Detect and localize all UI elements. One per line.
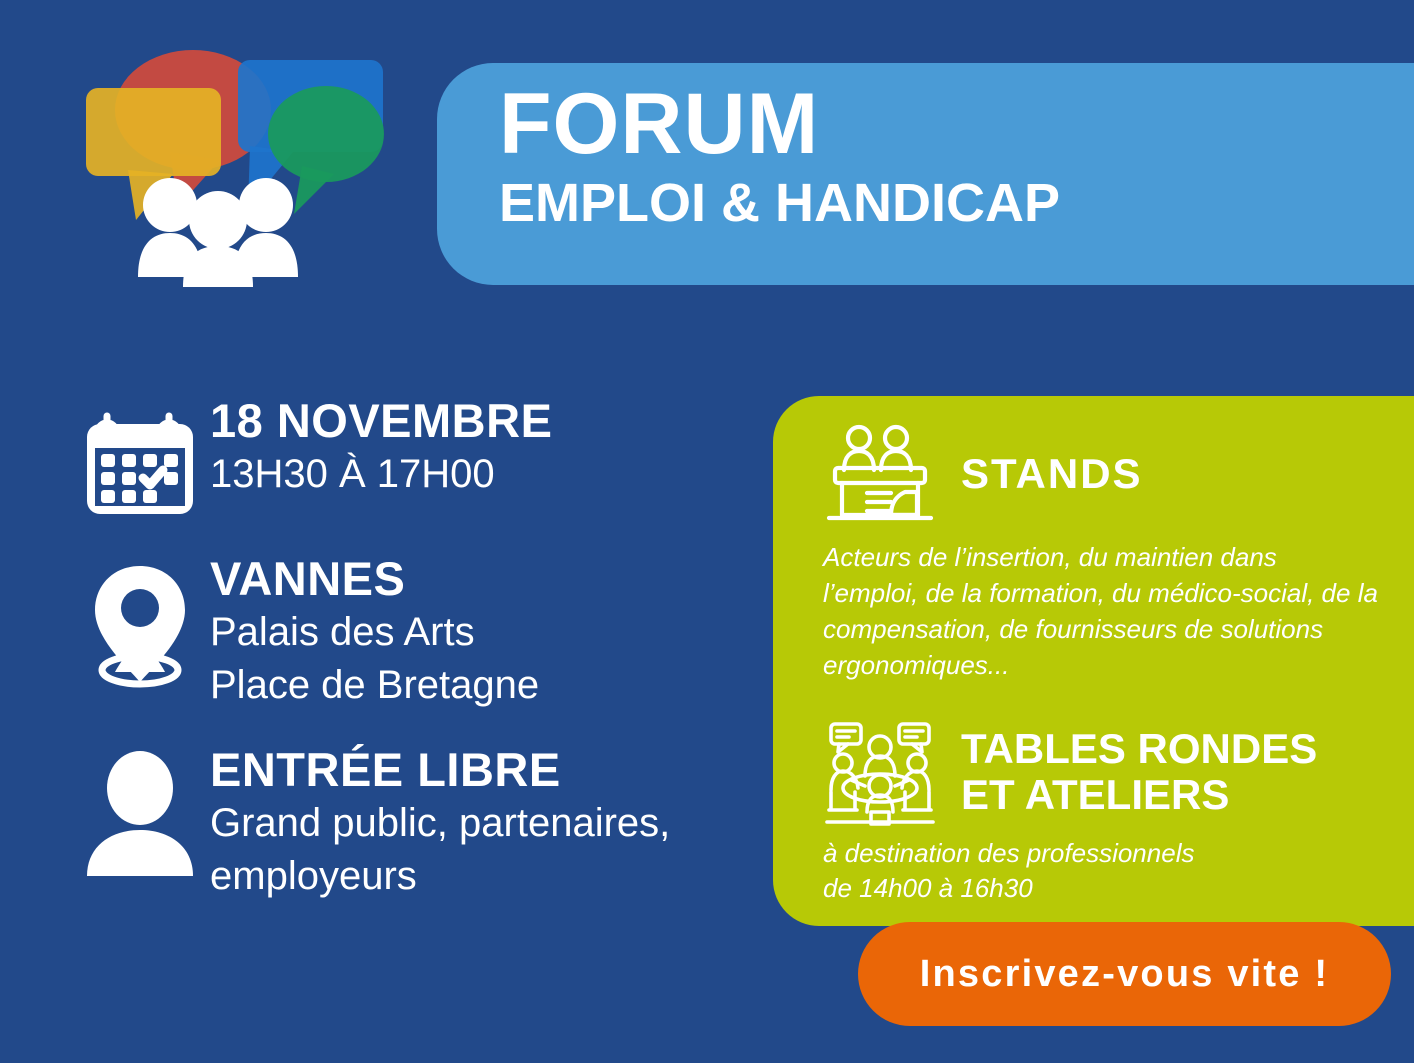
info-line-date-0: 13H30 À 17H00 xyxy=(210,449,552,500)
card-body-tables-rondes-line1: à destination des professionnels xyxy=(823,836,1378,872)
calendar-icon xyxy=(70,396,210,520)
info-row-date: 18 NOVEMBRE 13H30 À 17H00 xyxy=(70,396,760,520)
info-line-location-1: Place de Bretagne xyxy=(210,660,539,711)
header-banner: FORUM EMPLOI & HANDICAP xyxy=(437,63,1414,285)
card-body-tables-rondes-line2: de 14h00 à 16h30 xyxy=(823,871,1378,907)
card-block-stands: STANDS Acteurs de l’insertion, du mainti… xyxy=(821,422,1378,684)
info-text-audience: ENTRÉE LIBRE Grand public, partenaires, … xyxy=(210,745,670,902)
card-title-tables-rondes-line2: ET ATELIERS xyxy=(961,772,1317,817)
event-info-list: 18 NOVEMBRE 13H30 À 17H00 VANNES Palais … xyxy=(70,396,760,936)
card-title-tables-rondes-line1: TABLES RONDES xyxy=(961,726,1317,771)
page-title: FORUM xyxy=(499,81,1414,169)
activities-card: STANDS Acteurs de l’insertion, du mainti… xyxy=(773,396,1414,926)
info-line-location-0: Palais des Arts xyxy=(210,607,539,658)
info-line-audience-1: employeurs xyxy=(210,851,670,902)
info-line-audience-0: Grand public, partenaires, xyxy=(210,798,670,849)
location-pin-icon xyxy=(70,554,210,690)
card-title-stands: STANDS xyxy=(961,451,1143,496)
person-icon xyxy=(70,745,210,876)
info-title-location: VANNES xyxy=(210,554,539,605)
card-head-tables-rondes: TABLES RONDES ET ATELIERS xyxy=(821,718,1378,826)
info-row-location: VANNES Palais des Arts Place de Bretagne xyxy=(70,554,760,711)
reception-desk-icon xyxy=(821,422,939,526)
forum-logo xyxy=(78,42,408,287)
forum-logo-graphic xyxy=(78,42,408,287)
card-block-tables-rondes: TABLES RONDES ET ATELIERS à destination … xyxy=(821,718,1378,908)
register-cta-label: Inscrivez-vous vite ! xyxy=(920,953,1329,996)
card-head-stands: STANDS xyxy=(821,422,1378,526)
people-group-icon xyxy=(138,178,298,287)
register-cta-button[interactable]: Inscrivez-vous vite ! xyxy=(858,922,1391,1026)
card-body-stands: Acteurs de l’insertion, du maintien dans… xyxy=(823,540,1378,684)
info-title-audience: ENTRÉE LIBRE xyxy=(210,745,670,796)
info-text-location: VANNES Palais des Arts Place de Bretagne xyxy=(210,554,539,711)
info-text-date: 18 NOVEMBRE 13H30 À 17H00 xyxy=(210,396,552,500)
poster-canvas: FORUM EMPLOI & HANDICAP xyxy=(0,0,1414,1063)
page-subtitle: EMPLOI & HANDICAP xyxy=(499,175,1414,232)
card-title-tables-rondes-wrapper: TABLES RONDES ET ATELIERS xyxy=(961,726,1317,817)
info-title-date: 18 NOVEMBRE xyxy=(210,396,552,447)
info-row-audience: ENTRÉE LIBRE Grand public, partenaires, … xyxy=(70,745,760,902)
round-table-discussion-icon xyxy=(821,718,939,826)
